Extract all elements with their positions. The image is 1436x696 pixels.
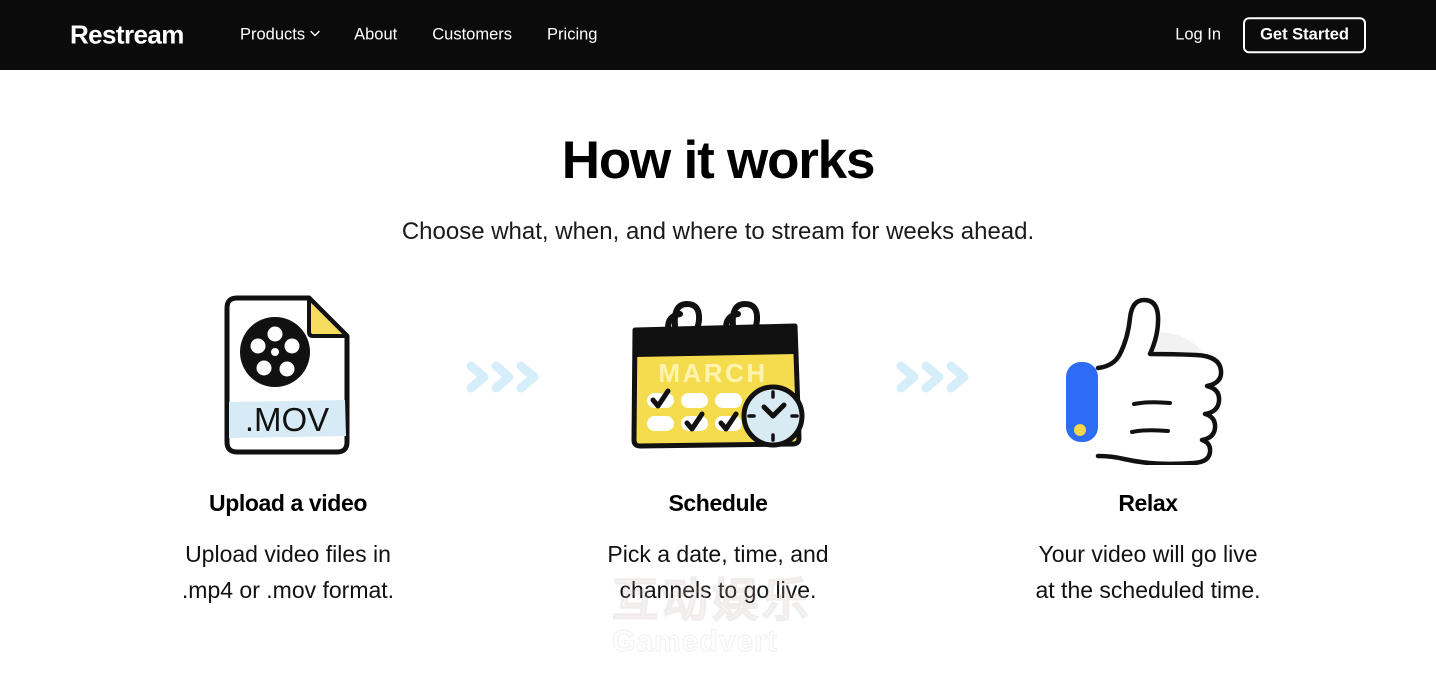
nav-item-about[interactable]: About [354,26,397,45]
calendar-month-label: MARCH [658,358,767,388]
watermark-en-text: Gamedvert [612,627,832,657]
step-desc-relax-line2: at the scheduled time. [1035,573,1260,609]
steps-section: 互动娱乐 Gamedvert .MOV [0,282,1436,608]
step-title-relax: Relax [1118,490,1177,517]
step-desc-upload-line1: Upload video files in [182,537,394,573]
step-desc-relax-line1: Your video will go live [1035,537,1260,573]
top-navigation-bar: Restream Products About Customers Pricin… [0,0,1436,70]
nav-item-customers[interactable]: Customers [432,26,512,45]
login-link[interactable]: Log In [1175,26,1221,45]
step-desc-schedule-line2: channels to go live. [607,573,828,609]
step-title-upload: Upload a video [209,490,367,517]
nav-item-customers-label: Customers [432,26,512,45]
chevron-right-triple-icon [463,355,543,399]
chevron-down-icon [310,29,319,38]
brand-logo[interactable]: Restream [70,20,184,51]
mov-file-icon: .MOV [213,290,363,465]
nav-item-pricing-label: Pricing [547,26,597,45]
step-schedule: MARCH [553,282,883,608]
calendar-clock-icon: MARCH [623,290,813,465]
hero-section: How it works Choose what, when, and wher… [0,132,1436,246]
nav-item-pricing[interactable]: Pricing [547,26,597,45]
thumbs-up-icon [1058,290,1238,465]
step-desc-upload-line2: .mp4 or .mov format. [182,573,394,609]
page-subtitle: Choose what, when, and where to stream f… [0,218,1436,246]
step-desc-schedule-line1: Pick a date, time, and [607,537,828,573]
get-started-button[interactable]: Get Started [1243,17,1366,53]
arrow-group-2 [883,282,983,472]
nav-item-about-label: About [354,26,397,45]
mov-file-label: .MOV [245,401,329,438]
nav-links: Products About Customers Pricing [240,26,597,45]
step-title-schedule: Schedule [668,490,767,517]
step-illustration-relax [983,282,1313,472]
step-illustration-upload: .MOV [123,282,453,472]
step-desc-relax: Your video will go live at the scheduled… [1035,537,1260,608]
step-desc-upload: Upload video files in .mp4 or .mov forma… [182,537,394,608]
page-title: How it works [0,132,1436,190]
nav-item-products-label: Products [240,26,305,45]
chevron-right-triple-icon [893,355,973,399]
step-upload-a-video: .MOV Upload a video Upload video files i… [123,282,453,608]
step-relax: Relax Your video will go live at the sch… [983,282,1313,608]
step-illustration-schedule: MARCH [553,282,883,472]
step-desc-schedule: Pick a date, time, and channels to go li… [607,537,828,608]
nav-item-products[interactable]: Products [240,26,319,45]
nav-actions: Log In Get Started [1175,17,1366,53]
arrow-group-1 [453,282,553,472]
